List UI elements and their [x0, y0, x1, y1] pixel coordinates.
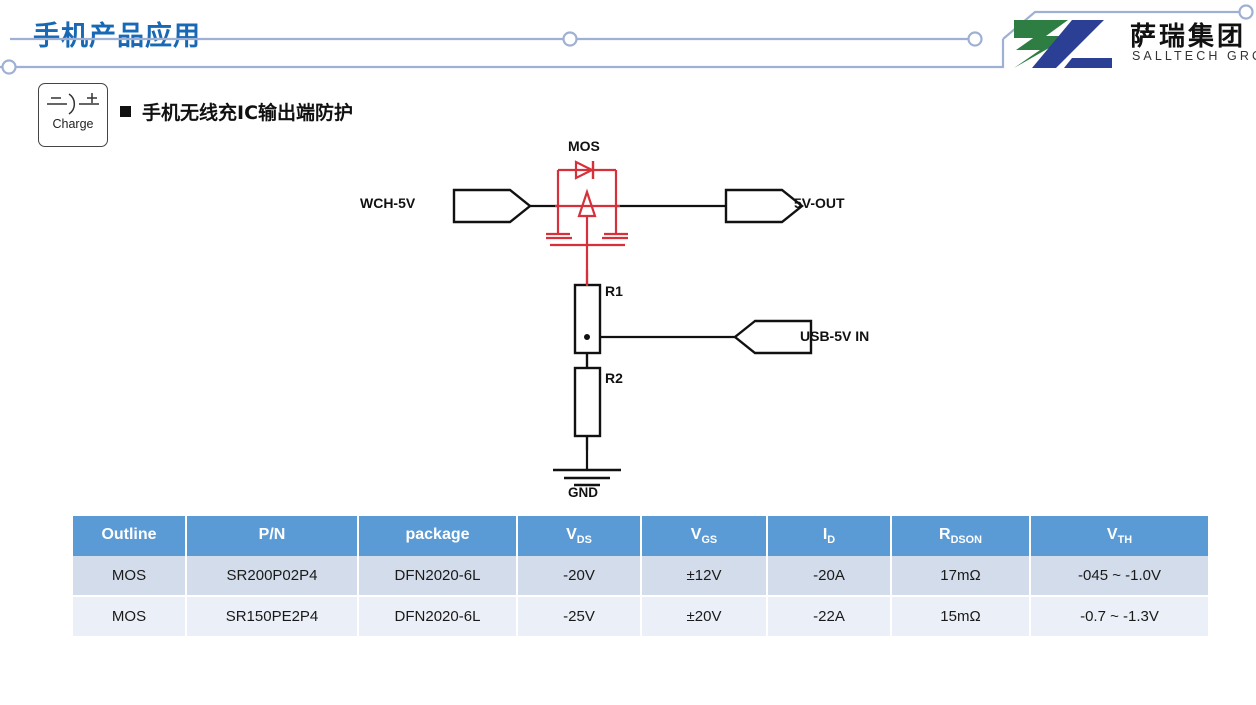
circuit-node-circle [969, 33, 982, 46]
brand-logo: 萨瑞集团 SALLTECH GROUP [1012, 16, 1252, 72]
section-heading-row: 手机无线充IC输出端防护 [120, 98, 353, 125]
schematic-label-usb5vin: USB-5V IN [800, 328, 869, 344]
table-header-id: ID [767, 516, 891, 556]
cell-rdson: 17mΩ [891, 556, 1030, 596]
table-header-rdson: RDSON [891, 516, 1030, 556]
square-bullet-icon [120, 106, 131, 117]
schematic-label-gnd: GND [568, 485, 598, 500]
table-row: MOS SR150PE2P4 DFN2020-6L -25V ±20V -22A… [73, 596, 1208, 637]
cell-vds: -20V [517, 556, 641, 596]
circuit-node-circle [564, 33, 577, 46]
cell-outline: MOS [73, 596, 186, 637]
cell-vgs: ±20V [641, 596, 767, 637]
charge-badge-label: Charge [39, 117, 107, 131]
circuit-node-circle [3, 61, 16, 74]
table-header-vth: VTH [1030, 516, 1208, 556]
logo-company-name-en: SALLTECH GROUP [1132, 49, 1256, 63]
section-heading-text: 手机无线充IC输出端防护 [142, 98, 353, 125]
logo-company-name-cn: 萨瑞集团 [1130, 16, 1246, 53]
circuit-schematic: MOS WCH-5V 5V-OUT USB-5V IN R1 R2 GND [350, 130, 910, 510]
cell-package: DFN2020-6L [358, 596, 517, 637]
table-header-vgs: VGS [641, 516, 767, 556]
cell-vth: -045 ~ -1.0V [1030, 556, 1208, 596]
cell-vds: -25V [517, 596, 641, 637]
resistor-symbol-r1 [575, 285, 600, 353]
cell-package: DFN2020-6L [358, 556, 517, 596]
charge-badge: Charge [38, 83, 108, 147]
schematic-label-mos: MOS [568, 138, 600, 154]
cell-vgs: ±12V [641, 556, 767, 596]
table-header-outline: Outline [73, 516, 186, 556]
cell-id: -22A [767, 596, 891, 637]
mosfet-symbol [546, 170, 628, 282]
table-header-vds: VDS [517, 516, 641, 556]
cell-rdson: 15mΩ [891, 596, 1030, 637]
schematic-label-5vout: 5V-OUT [794, 195, 845, 211]
cell-id: -20A [767, 556, 891, 596]
cell-pn: SR200P02P4 [186, 556, 358, 596]
schematic-label-r1: R1 [605, 283, 623, 299]
cell-vth: -0.7 ~ -1.3V [1030, 596, 1208, 637]
battery-charge-icon [43, 88, 103, 116]
schematic-label-wch5v: WCH-5V [360, 195, 415, 211]
table-header-package: package [358, 516, 517, 556]
port-flag-wch5v [454, 190, 530, 222]
salltech-sz-logo-icon [1012, 18, 1120, 70]
cell-pn: SR150PE2P4 [186, 596, 358, 637]
spec-table: Outline P/N package VDS VGS ID RDSON VTH… [73, 516, 1208, 638]
cell-outline: MOS [73, 556, 186, 596]
schematic-label-r2: R2 [605, 370, 623, 386]
port-flag-5vout [726, 190, 802, 222]
ground-symbol [553, 470, 621, 485]
schematic-canvas [350, 130, 910, 510]
table-row: MOS SR200P02P4 DFN2020-6L -20V ±12V -20A… [73, 556, 1208, 596]
table-header-row: Outline P/N package VDS VGS ID RDSON VTH [73, 516, 1208, 556]
junction-dot [584, 334, 590, 340]
table-header-pn: P/N [186, 516, 358, 556]
resistor-symbol-r2 [575, 368, 600, 436]
